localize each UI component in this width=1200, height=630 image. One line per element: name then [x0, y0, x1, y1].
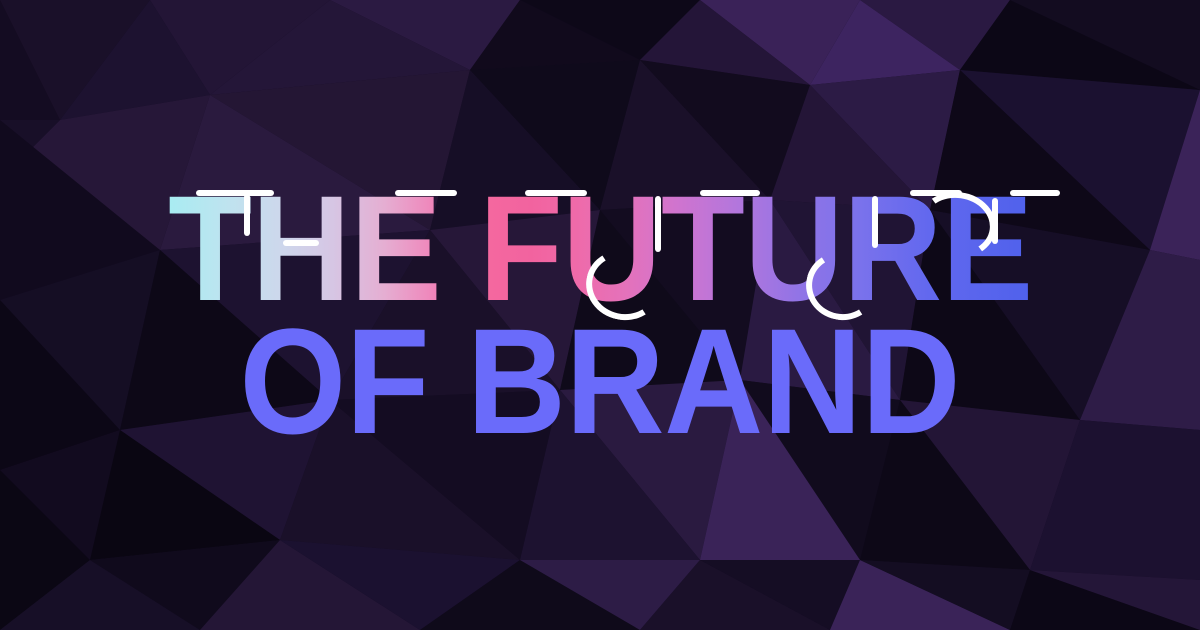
headline-line-2: OF BRAND	[240, 308, 961, 455]
og-card: THE FUTURE OF BRAND	[0, 0, 1200, 630]
headline-block: THE FUTURE OF BRAND	[0, 0, 1200, 630]
